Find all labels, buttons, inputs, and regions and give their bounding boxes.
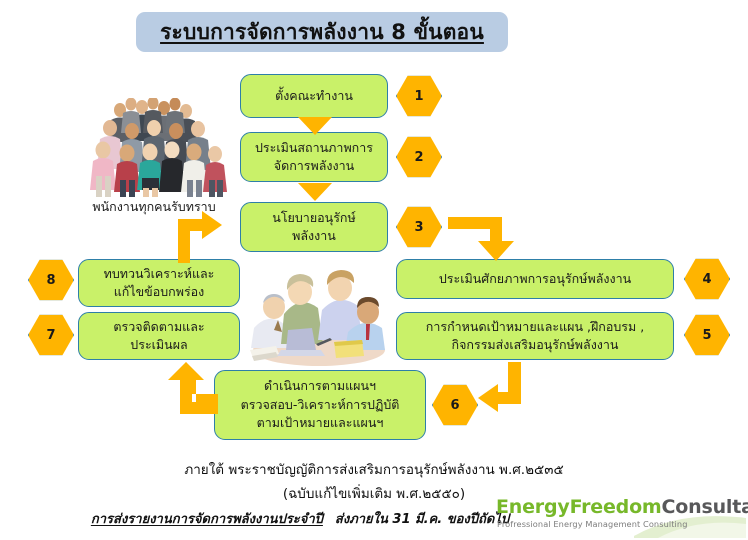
process-box-step-7-line-1: ตรวจติดตามและ xyxy=(113,318,204,337)
group-of-employees-photo xyxy=(80,98,228,198)
arrow-elbow-right-down-step3-to-step4 xyxy=(448,211,514,261)
step-marker-6-number: 6 xyxy=(450,398,459,413)
step-marker-5-number: 5 xyxy=(702,328,711,343)
page-title: ระบบการจัดการพลังงาน 8 ขั้นตอน xyxy=(160,16,484,49)
step-marker-7-number: 7 xyxy=(46,328,55,343)
meeting-illustration xyxy=(248,258,390,368)
annual-report-deadline: ส่งภายใน 31 มี.ค. ของปีถัดไป xyxy=(335,512,509,527)
process-box-step-6-line-3: ตามเป้าหมายและแผนฯ xyxy=(257,414,384,433)
process-box-step-7-line-2: ประเมินผล xyxy=(130,336,187,355)
process-box-step-2-line-1: ประเมินสถานภาพการ xyxy=(255,139,373,158)
step-marker-5[interactable]: 5 xyxy=(684,314,730,356)
process-box-step-1-line-1: ตั้งคณะทำงาน xyxy=(275,87,353,106)
process-box-step-5-line-2: กิจกรรมส่งเสริมอนุรักษ์พลังงาน xyxy=(452,336,619,355)
process-box-step-8-line-1: ทบทวนวิเคราะห์และ xyxy=(104,265,215,284)
step-marker-6[interactable]: 6 xyxy=(432,384,478,426)
arrow-down-step1-to-step2 xyxy=(298,117,332,135)
step-marker-4-number: 4 xyxy=(702,272,711,287)
process-box-step-2[interactable]: ประเมินสถานภาพการ จัดการพลังงาน xyxy=(240,132,388,182)
arrow-elbow-up-right-to-employees xyxy=(164,211,222,263)
process-box-step-8[interactable]: ทบทวนวิเคราะห์และ แก้ไขข้อบกพร่อง xyxy=(78,259,240,307)
logo-word-consultant: Consultant xyxy=(662,496,748,518)
process-box-step-6-line-1: ดำเนินการตามแผนฯ xyxy=(264,377,376,396)
step-marker-7[interactable]: 7 xyxy=(28,314,74,356)
step-marker-8[interactable]: 8 xyxy=(28,259,74,301)
logo-word-energy: Energy xyxy=(496,496,570,518)
process-box-step-5-line-1: การกำหนดเป้าหมายและแผน ,ฝึกอบรม , xyxy=(426,318,644,337)
process-box-step-7[interactable]: ตรวจติดตามและ ประเมินผล xyxy=(78,312,240,360)
step-marker-3[interactable]: 3 xyxy=(396,206,442,248)
energyfreedom-consultant-logo[interactable]: EnergyFreedomConsultant Profressional En… xyxy=(496,496,744,538)
legal-text-line-1: ภายใต้ พระราชบัญญัติการส่งเสริมการอนุรัก… xyxy=(0,458,748,480)
process-box-step-3-line-2: พลังงาน xyxy=(292,227,336,246)
process-box-step-6-line-2: ตรวจสอบ-วิเคราะห์การปฏิบัติ xyxy=(241,396,400,415)
logo-tagline: Profressional Energy Management Consulti… xyxy=(497,519,688,529)
logo-word-freedom: Freedom xyxy=(570,496,662,518)
process-box-step-4-line-1: ประเมินศักยภาพการอนุรักษ์พลังงาน xyxy=(439,270,631,289)
step-marker-8-number: 8 xyxy=(46,273,55,288)
step-marker-1[interactable]: 1 xyxy=(396,75,442,117)
arrow-elbow-left-up-step6-to-step7 xyxy=(166,362,218,414)
process-box-step-4[interactable]: ประเมินศักยภาพการอนุรักษ์พลังงาน xyxy=(396,259,674,299)
employees-illustration xyxy=(80,98,228,198)
step-marker-4[interactable]: 4 xyxy=(684,258,730,300)
process-box-step-3-line-1: นโยบายอนุรักษ์ xyxy=(272,209,355,228)
step-marker-2-number: 2 xyxy=(414,150,423,165)
arrow-elbow-down-left-step5-to-step6 xyxy=(478,362,538,416)
process-box-step-6[interactable]: ดำเนินการตามแผนฯ ตรวจสอบ-วิเคราะห์การปฏิ… xyxy=(214,370,426,440)
step-marker-3-number: 3 xyxy=(414,220,423,235)
team-meeting-clipart xyxy=(248,258,390,368)
page-title-banner: ระบบการจัดการพลังงาน 8 ขั้นตอน xyxy=(136,12,508,52)
process-box-step-2-line-2: จัดการพลังงาน xyxy=(274,157,354,176)
process-box-step-1[interactable]: ตั้งคณะทำงาน xyxy=(240,74,388,118)
step-marker-1-number: 1 xyxy=(414,89,423,104)
arrow-down-step2-to-step3 xyxy=(298,183,332,201)
process-box-step-5[interactable]: การกำหนดเป้าหมายและแผน ,ฝึกอบรม , กิจกรร… xyxy=(396,312,674,360)
annual-report-title: การส่งรายงานการจัดการพลังงานประจำปี xyxy=(91,512,323,527)
process-box-step-8-line-2: แก้ไขข้อบกพร่อง xyxy=(114,283,205,302)
logo-wordmark: EnergyFreedomConsultant xyxy=(496,496,748,518)
step-marker-2[interactable]: 2 xyxy=(396,136,442,178)
process-box-step-3[interactable]: นโยบายอนุรักษ์ พลังงาน xyxy=(240,202,388,252)
slide-canvas: ระบบการจัดการพลังงาน 8 ขั้นตอน xyxy=(0,0,748,540)
